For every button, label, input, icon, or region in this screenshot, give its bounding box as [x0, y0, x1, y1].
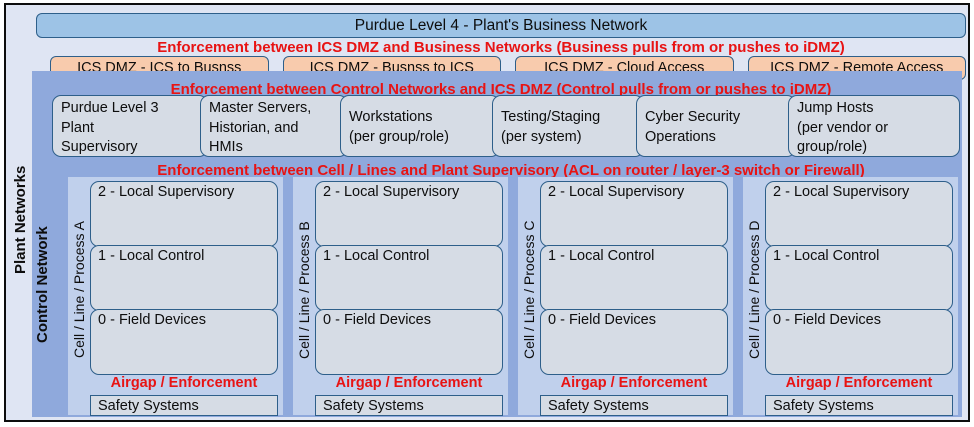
safety-systems-box: Safety Systems [315, 395, 503, 416]
airgap-enforcement-label: Airgap / Enforcement [540, 375, 728, 391]
purdue-level-3-row: Purdue Level 3 Plant Supervisory Master … [52, 95, 960, 157]
zone-local-supervisory: 2 - Local Supervisory [90, 181, 278, 247]
airgap-enforcement-label: Airgap / Enforcement [315, 375, 503, 391]
level3-line: Supervisory [61, 138, 207, 158]
cell-group-c-label: Cell / Line / Process C [521, 195, 537, 385]
cell-group-c-zones: 2 - Local Supervisory 1 - Local Control … [540, 181, 728, 371]
zone-local-supervisory: 2 - Local Supervisory [765, 181, 953, 247]
cell-group-c: Cell / Line / Process C 2 - Local Superv… [518, 177, 733, 415]
level3-line: Historian, and [209, 119, 347, 139]
level3-line: Workstations [349, 108, 499, 128]
airgap-enforcement-label: Airgap / Enforcement [90, 375, 278, 391]
purdue-model-network-diagram: Plant Networks Purdue Level 4 - Plant's … [0, 0, 974, 427]
zone-local-control: 1 - Local Control [90, 245, 278, 311]
zone-local-supervisory: 2 - Local Supervisory [540, 181, 728, 247]
plant-networks-frame: Plant Networks Purdue Level 4 - Plant's … [4, 3, 970, 422]
level3-box-cyber-security-operations: Cyber Security Operations [636, 95, 796, 157]
zone-local-supervisory: 2 - Local Supervisory [315, 181, 503, 247]
safety-systems-box: Safety Systems [90, 395, 278, 416]
safety-systems-box: Safety Systems [540, 395, 728, 416]
cell-group-a-zones: 2 - Local Supervisory 1 - Local Control … [90, 181, 278, 371]
cell-group-a-label: Cell / Line / Process A [71, 195, 87, 385]
zone-local-control: 1 - Local Control [540, 245, 728, 311]
purdue-level-4-box: Purdue Level 4 - Plant's Business Networ… [36, 13, 966, 38]
level3-line: (per system) [501, 128, 643, 148]
level3-line: (per vendor or [797, 119, 959, 139]
zone-field-devices: 0 - Field Devices [90, 309, 278, 375]
zone-field-devices: 0 - Field Devices [540, 309, 728, 375]
level3-line: HMIs [209, 138, 347, 158]
level3-line: Operations [645, 128, 795, 148]
level3-line: Plant [61, 119, 207, 139]
level3-line: Testing/Staging [501, 108, 643, 128]
level3-box-workstations: Workstations (per group/role) [340, 95, 500, 157]
level3-line: Jump Hosts [797, 99, 959, 119]
level3-line: Purdue Level 3 [61, 99, 207, 119]
control-network-label: Control Network [34, 200, 51, 370]
plant-networks-label: Plant Networks [12, 125, 30, 315]
zone-field-devices: 0 - Field Devices [315, 309, 503, 375]
level3-line: Cyber Security [645, 108, 795, 128]
level3-box-jump-hosts: Jump Hosts (per vendor or group/role) [788, 95, 960, 157]
zone-local-control: 1 - Local Control [765, 245, 953, 311]
cell-group-d-zones: 2 - Local Supervisory 1 - Local Control … [765, 181, 953, 371]
cell-group-d-label: Cell / Line / Process D [746, 195, 762, 385]
cell-group-d: Cell / Line / Process D 2 - Local Superv… [743, 177, 958, 415]
cell-group-b-zones: 2 - Local Supervisory 1 - Local Control … [315, 181, 503, 371]
cell-groups-row: Cell / Line / Process A 2 - Local Superv… [68, 177, 958, 415]
level3-box-master-servers: Master Servers, Historian, and HMIs [200, 95, 348, 157]
safety-systems-box: Safety Systems [765, 395, 953, 416]
enforcement-business-to-dmz-label: Enforcement between ICS DMZ and Business… [36, 39, 966, 56]
cell-group-a: Cell / Line / Process A 2 - Local Superv… [68, 177, 283, 415]
cell-group-b: Cell / Line / Process B 2 - Local Superv… [293, 177, 508, 415]
level3-box-testing-staging: Testing/Staging (per system) [492, 95, 644, 157]
level3-line: group/role) [797, 138, 959, 158]
zone-field-devices: 0 - Field Devices [765, 309, 953, 375]
level3-line: (per group/role) [349, 128, 499, 148]
level3-box-plant-supervisory: Purdue Level 3 Plant Supervisory [52, 95, 208, 157]
airgap-enforcement-label: Airgap / Enforcement [765, 375, 953, 391]
zone-local-control: 1 - Local Control [315, 245, 503, 311]
level3-line: Master Servers, [209, 99, 347, 119]
cell-group-b-label: Cell / Line / Process B [296, 195, 312, 385]
